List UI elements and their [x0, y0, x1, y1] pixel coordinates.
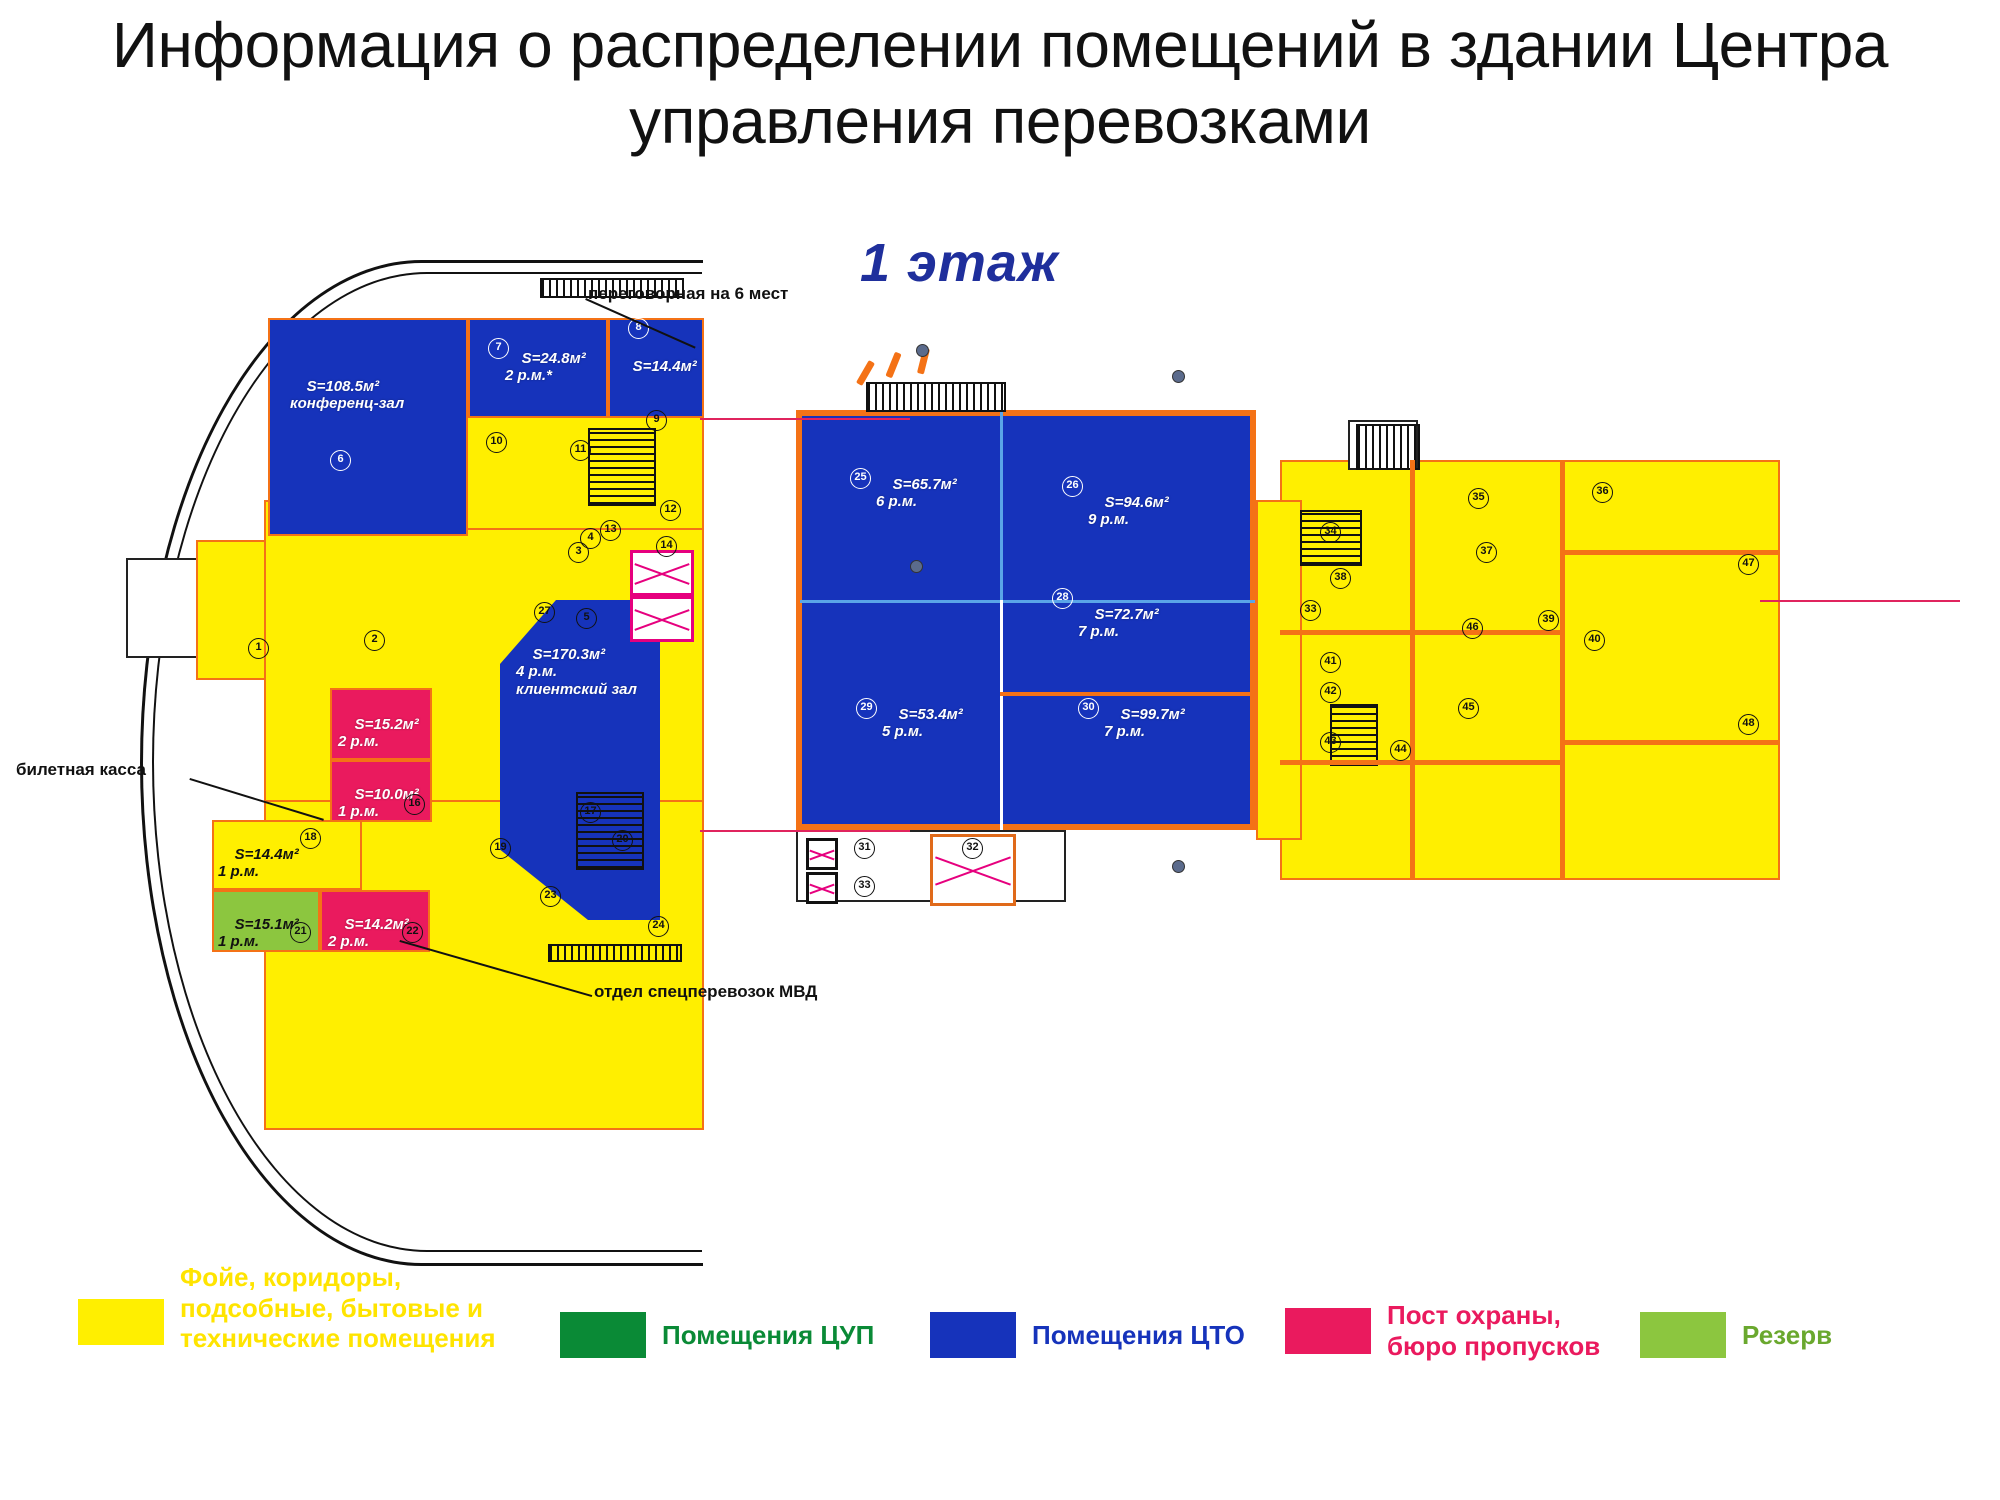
room-6-label: S=108.5м²конференц-зал — [290, 360, 404, 431]
room-26-label: S=94.6м²9 р.м. — [1088, 476, 1169, 547]
room-number-46: 46 — [1462, 618, 1483, 639]
column-dot-4 — [910, 560, 923, 573]
legend-item-3: Пост охраны, бюро пропусков — [1285, 1300, 1615, 1361]
page-title: Информация о распределении помещений в з… — [0, 8, 2000, 159]
divider-h-1 — [800, 600, 1255, 603]
room-number-36: 36 — [1592, 482, 1613, 503]
guide-line-3 — [1760, 600, 1960, 602]
callout-ticket-office: билетная касса — [16, 760, 146, 780]
column-dot-1 — [916, 344, 929, 357]
right-wing-left-strip — [1256, 500, 1302, 840]
room-number-31: 31 — [854, 838, 875, 859]
room-15-label: S=15.2м²2 р.м. — [338, 698, 419, 769]
room-number-47: 47 — [1738, 554, 1759, 575]
legend-swatch-cto — [930, 1312, 1016, 1358]
stairs-left-1 — [588, 428, 656, 506]
floor-plan: S=108.5м²конференц-зал 6 S=24.8м²2 р.м.*… — [0, 300, 2000, 1260]
legend-swatch-foyer — [78, 1299, 164, 1345]
partition-r5 — [1560, 740, 1780, 745]
divider-v-1 — [1000, 412, 1003, 602]
room-number-11: 11 — [570, 440, 591, 461]
floor-label: 1 этаж — [860, 232, 1059, 294]
room-number-35: 35 — [1468, 488, 1489, 509]
partition-r1 — [1410, 460, 1415, 880]
room-number-26: 26 — [1062, 476, 1083, 497]
legend: Фойе, коридоры, подсобные, бытовые и тех… — [0, 1290, 2000, 1420]
room-number-17: 17 — [580, 802, 601, 823]
shaft-x-1 — [806, 838, 838, 870]
room-number-45: 45 — [1458, 698, 1479, 719]
room-25-label: S=65.7м²6 р.м. — [876, 458, 957, 529]
room-number-9: 9 — [646, 410, 667, 431]
guide-line-1 — [700, 418, 910, 420]
callout-mvd-dept: отдел спецперевозок МВД — [594, 982, 817, 1002]
room-number-40: 40 — [1584, 630, 1605, 651]
legend-swatch-reserve — [1640, 1312, 1726, 1358]
room-22-label: S=14.2м²2 р.м. — [328, 898, 409, 969]
legend-swatch-cup — [560, 1312, 646, 1358]
window-hatch-bottom-left — [548, 944, 682, 962]
room-number-43: 43 — [1320, 732, 1341, 753]
room-number-28: 28 — [1052, 588, 1073, 609]
room-number-4: 4 — [580, 528, 601, 549]
shaft-x-2 — [806, 872, 838, 904]
room-number-12: 12 — [660, 500, 681, 521]
room-number-44: 44 — [1390, 740, 1411, 761]
room-7-label: S=24.8м²2 р.м.* — [505, 332, 586, 403]
room-number-48: 48 — [1738, 714, 1759, 735]
room-8-label: S=14.4м² — [616, 340, 697, 393]
room-number-33: 33 — [854, 876, 875, 897]
legend-swatch-security — [1285, 1308, 1371, 1354]
guide-line-2 — [700, 830, 910, 832]
room-27-label: S=170.3м²4 р.м.клиентский зал — [516, 628, 637, 716]
legend-item-0: Фойе, коридоры, подсобные, бытовые и тех… — [78, 1290, 498, 1354]
legend-label-cup: Помещения ЦУП — [662, 1320, 874, 1351]
elevator-1 — [630, 550, 694, 596]
room-21-label: S=15.1м²1 р.м. — [218, 898, 299, 969]
room-number-24: 24 — [648, 916, 669, 937]
room-18-label: S=14.4м²1 р.м. — [218, 828, 299, 899]
room-number-6: 6 — [330, 450, 351, 471]
room-number-13: 13 — [600, 520, 621, 541]
legend-label-security: Пост охраны, бюро пропусков — [1387, 1300, 1600, 1361]
legend-item-4: Резерв — [1640, 1312, 1940, 1358]
partition-r6 — [1280, 760, 1560, 765]
room-number-2: 2 — [364, 630, 385, 651]
room-number-33b: 33 — [1300, 600, 1321, 621]
roof-arrow-2 — [885, 352, 901, 379]
legend-label-reserve: Резерв — [1742, 1320, 1832, 1351]
stairs-central — [866, 382, 1006, 412]
room-number-38: 38 — [1330, 568, 1351, 589]
room-number-25: 25 — [850, 468, 871, 489]
room-number-7: 7 — [488, 338, 509, 359]
partition-r3 — [1280, 630, 1560, 635]
room-number-39: 39 — [1538, 610, 1559, 631]
room-28-label: S=72.7м²7 р.м. — [1078, 588, 1159, 659]
room-number-27: 27 — [534, 602, 555, 623]
room-number-29: 29 — [856, 698, 877, 719]
legend-item-2: Помещения ЦТО — [930, 1312, 1270, 1358]
room-number-41: 41 — [1320, 652, 1341, 673]
room-number-32: 32 — [962, 838, 983, 859]
room-number-20: 20 — [612, 830, 633, 851]
column-dot-2 — [1172, 370, 1185, 383]
partition-r2 — [1560, 460, 1565, 880]
legend-label-foyer: Фойе, коридоры, подсобные, бытовые и тех… — [180, 1262, 496, 1354]
room-number-18: 18 — [300, 828, 321, 849]
room-number-10: 10 — [486, 432, 507, 453]
room-number-37: 37 — [1476, 542, 1497, 563]
room-29-label: S=53.4м²5 р.м. — [882, 688, 963, 759]
room-number-16: 16 — [404, 794, 425, 815]
room-number-22: 22 — [402, 922, 423, 943]
room-number-23: 23 — [540, 886, 561, 907]
room-number-5: 5 — [576, 608, 597, 629]
room-number-14: 14 — [656, 536, 677, 557]
legend-item-1: Помещения ЦУП — [560, 1312, 890, 1358]
room-number-1: 1 — [248, 638, 269, 659]
room-number-42: 42 — [1320, 682, 1341, 703]
legend-label-cto: Помещения ЦТО — [1032, 1320, 1245, 1351]
room-30-label: S=99.7м²7 р.м. — [1104, 688, 1185, 759]
column-dot-3 — [1172, 860, 1185, 873]
room-number-19: 19 — [490, 838, 511, 859]
room-number-34: 34 — [1320, 522, 1341, 543]
room-number-21: 21 — [290, 922, 311, 943]
room-number-30: 30 — [1078, 698, 1099, 719]
elevator-2 — [630, 596, 694, 642]
divider-v-2 — [1000, 600, 1003, 830]
callout-meeting-room: переговорная на 6 мест — [588, 284, 788, 304]
